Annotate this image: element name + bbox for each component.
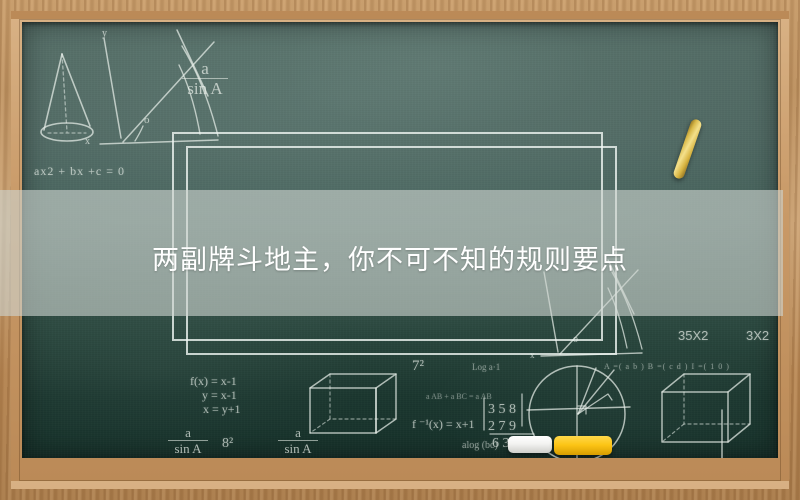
chalk-power-8: 8² [222,436,233,452]
chalk-inverse-function: f ⁻¹(x) = x+1 [412,417,474,432]
chalk-power-7: 7² [412,358,424,375]
chalk-fraction-a-sina-1: a sin A [182,60,228,98]
chalk-function-line-2: y = x-1 [202,388,237,403]
cover-image-canvas: a sin A y x o ax2 + bx +c = 0 o x f(x) =… [0,0,800,500]
chalk-multiplication-3x2: 3X2 [746,328,769,343]
chalk-division-row-2: 2 7 9 [488,419,516,435]
chalk-function-line-3: x = y+1 [203,402,241,417]
page-title: 两副牌斗地主，你不可不知的规则要点 [152,238,628,277]
chalk-fraction-a-sina-3: a sin A [278,426,318,456]
chalk-division-row-1: 3 5 8 [488,402,516,418]
chalk-fraction-a-sina-2: a sin A [168,426,208,456]
yellow-chalk-piece [554,436,612,455]
chalk-function-line-1: f(x) = x-1 [190,374,237,389]
chalk-log-a1: Log a·1 [472,362,500,372]
chalk-quadratic-equation: ax2 + bx +c = 0 [34,164,125,179]
white-chalk-piece [508,436,552,453]
chalk-axis-label-y: y [102,28,107,39]
chalk-angle-label-o: o [144,114,150,126]
chalk-ab-bc-expression: a AB + a BC = a AB [426,392,492,401]
chalk-multiplication-35x2: 35X2 [678,328,708,343]
chalk-matrix-notation: A =( a b ) B =( c d ) I =( 1 0 ) [604,362,730,371]
chalk-axis-label-x: x [85,136,90,147]
